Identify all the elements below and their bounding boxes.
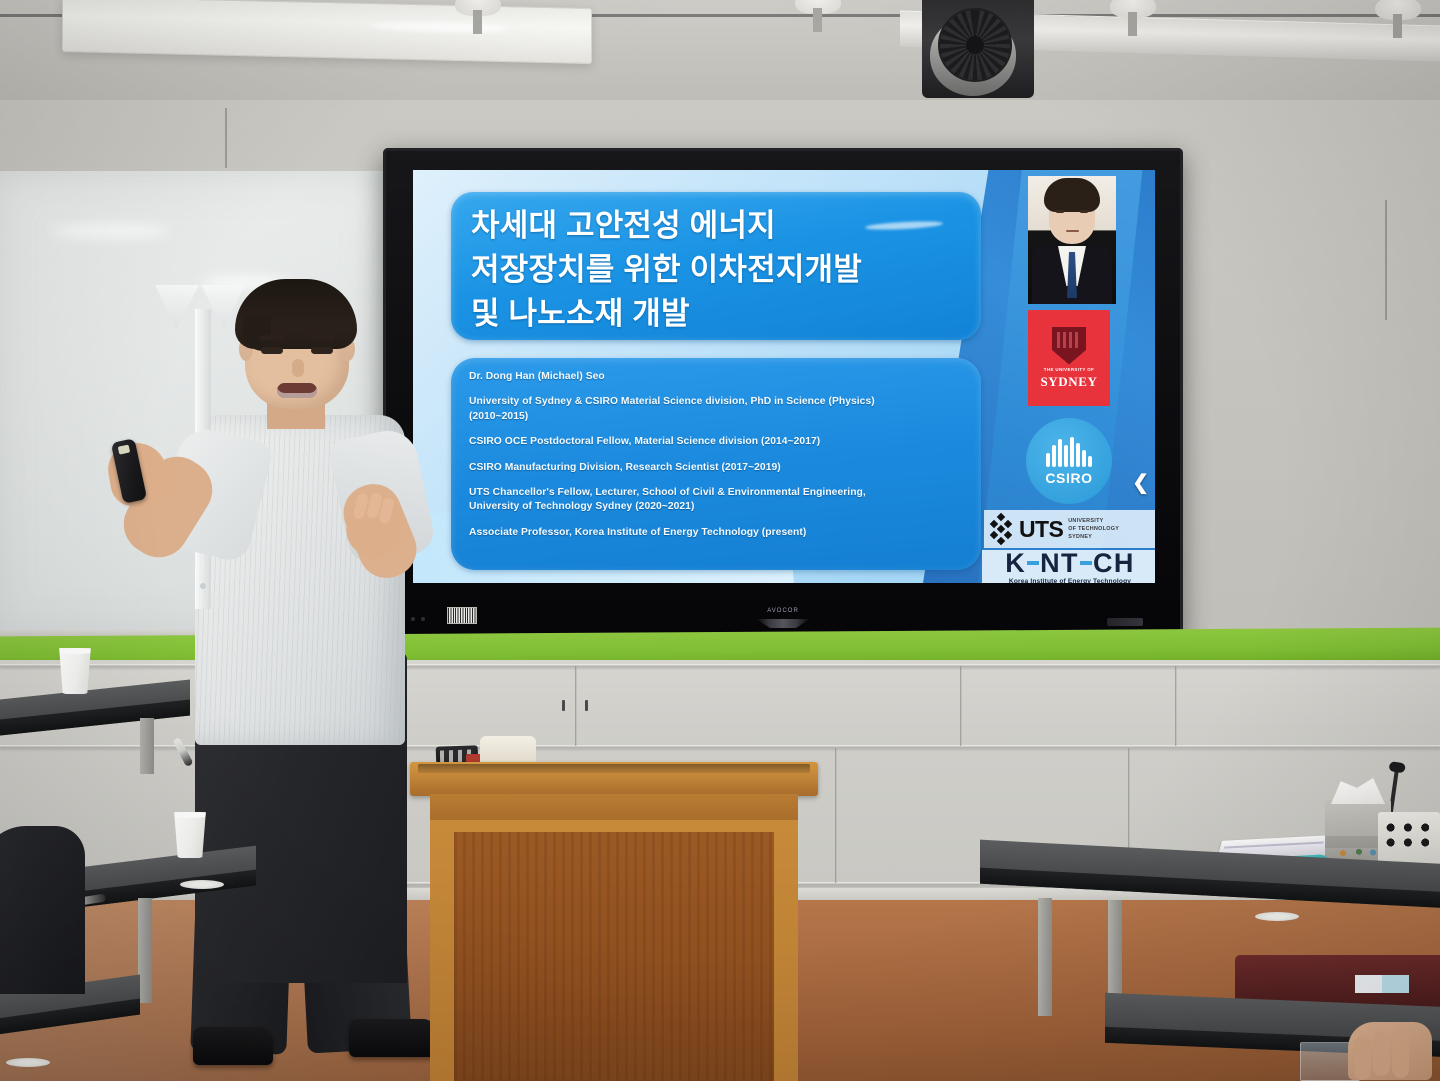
cabinet-seam-3 bbox=[1175, 666, 1177, 746]
kentech-logo-tagline: Korea Institute of Energy Technology bbox=[1009, 578, 1131, 584]
whiteboard-sheen-1 bbox=[50, 223, 170, 239]
cup-saucer-left-lower bbox=[6, 1058, 50, 1067]
kentech-k: K bbox=[1005, 550, 1026, 577]
light-glow bbox=[369, 21, 506, 33]
display-screen[interactable]: 차세대 고안전성 에너지 저장장치를 위한 이차전지개발 및 나노소재 개발 D… bbox=[413, 170, 1155, 583]
kentech-ch: CH bbox=[1093, 550, 1135, 577]
slide-title-line-3: 및 나노소재 개발 bbox=[471, 292, 963, 336]
wall-display[interactable]: 차세대 고안전성 에너지 저장장치를 위한 이차전지개발 및 나노소재 개발 D… bbox=[383, 148, 1183, 648]
kentech-e-bar-icon bbox=[1027, 561, 1039, 565]
chair-card bbox=[1355, 975, 1409, 993]
cup-saucer-right bbox=[1255, 912, 1299, 921]
presenter-eye-left bbox=[261, 347, 283, 354]
cabinet-seam-2 bbox=[960, 666, 962, 746]
cabinet-seam-1 bbox=[575, 666, 577, 746]
bio-entry-1-main: University of Sydney & CSIRO Material Sc… bbox=[469, 396, 875, 407]
podium-front-panel bbox=[454, 832, 774, 1081]
presenter-eye-right bbox=[311, 347, 333, 354]
presenter-nose bbox=[292, 359, 304, 377]
ceiling-dome-right bbox=[1110, 0, 1156, 18]
display-brand-text: AVOCOR bbox=[767, 608, 799, 614]
kentech-e2-bar-icon bbox=[1080, 561, 1092, 565]
csiro-bars-icon bbox=[1046, 437, 1091, 467]
podium-body bbox=[430, 820, 798, 1081]
slide-body-box: Dr. Dong Han (Michael) Seo University of… bbox=[451, 358, 981, 570]
uts-logo: UTS UNIVERSITY OF TECHNOLOGY SYDNEY bbox=[984, 510, 1155, 548]
clicker-led-icon bbox=[118, 445, 130, 455]
lecture-room-scene: 차세대 고안전성 에너지 저장장치를 위한 이차전지개발 및 나노소재 개발 D… bbox=[0, 0, 1440, 1081]
cabinet-handle-1[interactable] bbox=[562, 700, 565, 711]
portrait-mouth bbox=[1066, 230, 1079, 232]
bio-entry-5: Associate Professor, Korea Institute of … bbox=[469, 526, 967, 540]
uts-sub-2: OF TECHNOLOGY bbox=[1068, 525, 1119, 533]
dome-stem bbox=[1393, 14, 1402, 38]
uts-logo-abbr: UTS bbox=[1019, 516, 1063, 543]
speaker-hub bbox=[966, 36, 984, 54]
slide-logo-rail: THE UNIVERSITY OF SYDNEY CSIRO bbox=[980, 170, 1155, 583]
csiro-logo: CSIRO bbox=[1026, 418, 1112, 504]
bezel-ir-sensor bbox=[1107, 618, 1143, 626]
dome-stem bbox=[813, 8, 822, 32]
kentech-logo: KNTCH Korea Institute of Energy Technolo… bbox=[982, 550, 1155, 583]
audience-left-shoulder bbox=[0, 826, 85, 994]
paper-cup-left-upper bbox=[57, 648, 93, 694]
cup-rim bbox=[170, 812, 210, 818]
cabinet-handle-2[interactable] bbox=[585, 700, 588, 711]
paper-cup-left-lower bbox=[172, 812, 208, 858]
presenter-name: Dr. Dong Han (Michael) Seo bbox=[469, 370, 967, 384]
control-panel-knobs-icon bbox=[1382, 818, 1436, 852]
sydney-shield-icon bbox=[1052, 327, 1086, 365]
bio-entry-1-sub: (2010~2015) bbox=[469, 410, 967, 424]
uts-sub-1: UNIVERSITY bbox=[1068, 517, 1119, 525]
table-leg-right-1 bbox=[1038, 898, 1052, 1016]
uts-sub-3: SYDNEY bbox=[1068, 533, 1119, 541]
wall-seam-left bbox=[225, 108, 227, 168]
wall-seam-right bbox=[1385, 200, 1387, 320]
table-leg-right-2 bbox=[1108, 900, 1122, 1000]
ceiling-speaker-vent bbox=[922, 0, 1034, 98]
podium-top-surface bbox=[410, 762, 818, 796]
portrait-eye-right bbox=[1080, 210, 1088, 213]
university-of-sydney-logo: THE UNIVERSITY OF SYDNEY bbox=[1028, 310, 1110, 406]
bio-entry-3: CSIRO Manufacturing Division, Research S… bbox=[469, 461, 967, 475]
kentech-logo-wordmark: KNTCH bbox=[1005, 550, 1135, 577]
control-panel[interactable] bbox=[1378, 812, 1440, 866]
brand-wing-icon bbox=[756, 619, 810, 628]
cabinet-seam-4 bbox=[835, 748, 837, 883]
slide-title-line-2: 저장장치를 위한 이차전지개발 bbox=[471, 248, 963, 292]
bio-entry-4-main: UTS Chancellor's Fellow, Lecturer, Schoo… bbox=[469, 487, 866, 498]
bio-entry-4: UTS Chancellor's Fellow, Lecturer, Schoo… bbox=[469, 486, 967, 515]
sydney-logo-topline: THE UNIVERSITY OF bbox=[1044, 367, 1094, 372]
presenter-hair bbox=[235, 279, 357, 349]
uts-logo-subtext: UNIVERSITY OF TECHNOLOGY SYDNEY bbox=[1068, 517, 1119, 541]
presenter-collar-left bbox=[155, 285, 199, 329]
csiro-logo-name: CSIRO bbox=[1045, 470, 1092, 486]
bio-entry-4-sub: University of Technology Sydney (2020~20… bbox=[469, 500, 967, 514]
kentech-nt: NT bbox=[1040, 550, 1079, 577]
dome-stem bbox=[473, 10, 482, 34]
wooden-podium bbox=[410, 762, 818, 1081]
table-leg-left-upper bbox=[140, 718, 154, 774]
table-leg-left-mid bbox=[138, 898, 152, 1003]
presenter-mouth bbox=[277, 383, 317, 398]
chevron-left-icon[interactable]: ❮ bbox=[1132, 470, 1149, 495]
presenter-portrait-photo bbox=[1028, 176, 1116, 304]
tissue-box-decoration bbox=[1333, 842, 1383, 856]
bezel-barcode-sticker bbox=[447, 607, 477, 624]
cup-rim bbox=[55, 648, 95, 654]
uts-mark-icon bbox=[988, 514, 1014, 544]
bio-entry-2: CSIRO OCE Postdoctoral Fellow, Material … bbox=[469, 435, 967, 449]
audience-right-hand bbox=[1348, 1022, 1432, 1080]
ceiling-dome-mid bbox=[795, 0, 841, 14]
cup-saucer-left bbox=[180, 880, 224, 889]
sydney-logo-name: SYDNEY bbox=[1040, 374, 1097, 390]
dome-stem bbox=[1128, 12, 1137, 36]
presenter-shoe-left bbox=[193, 1027, 273, 1065]
ceiling-dome-far-right bbox=[1375, 0, 1421, 20]
portrait-eye-left bbox=[1056, 210, 1064, 213]
shirt-button-3 bbox=[200, 583, 206, 589]
portrait-hair bbox=[1044, 178, 1100, 212]
ceiling-dome-left bbox=[455, 0, 501, 16]
display-brand-logo: AVOCOR bbox=[750, 608, 816, 630]
bio-entry-1: University of Sydney & CSIRO Material Sc… bbox=[469, 395, 967, 424]
slide-title-box: 차세대 고안전성 에너지 저장장치를 위한 이차전지개발 및 나노소재 개발 bbox=[451, 192, 981, 340]
